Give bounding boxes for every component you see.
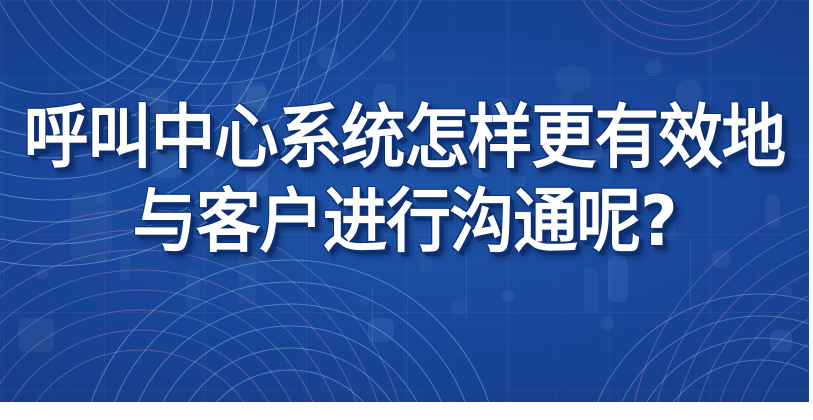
arc-group-top-right [566,0,794,54]
page-margin-right [809,0,813,420]
page-margin-bottom [0,402,813,420]
arc-group-bottom-right-cyan [584,294,809,402]
banner-image: 呼叫中心系统怎样更有效地 与客户进行沟通呢? [0,0,809,402]
headline-line-1: 呼叫中心系统怎样更有效地 [0,96,809,179]
headline: 呼叫中心系统怎样更有效地 与客户进行沟通呢? [0,96,809,254]
arc-group-bottom-left-cyan [80,260,500,402]
headline-line-2: 与客户进行沟通呢? [0,180,809,263]
